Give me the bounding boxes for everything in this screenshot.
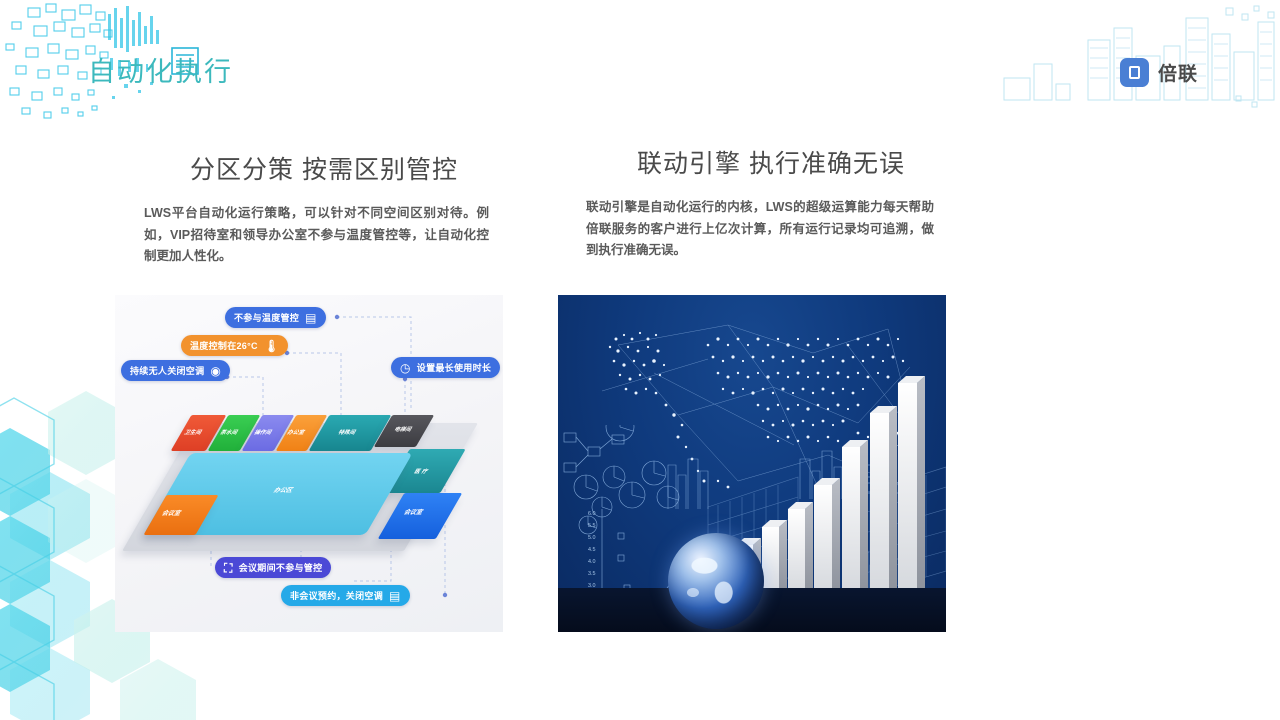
column-left: 分区分策 按需区别管控 LWS平台自动化运行策略，可以针对不同空间区别对待。例如… [115,150,515,268]
chip-label: 不参与温度管控 [234,311,299,324]
chip-temperature-26[interactable]: 温度控制在26°C 🌡 [181,335,288,356]
globe-graphic [668,533,764,629]
chip-meeting-exempt[interactable]: ⛶ 会议期间不参与管控 [215,557,331,578]
clock-icon: ◷ [400,362,411,374]
chip-label: 非会议预约，关闭空调 [290,589,383,602]
chip-unattended-ac-off[interactable]: 持续无人关闭空调 ◉ [121,360,230,381]
chip-label: 会议期间不参与管控 [239,561,323,574]
brand-name: 倍联 [1158,59,1198,86]
column-right: 联动引擎 执行准确无误 联动引擎是自动化运行的内核，LWS的超级运算能力每天帮助… [558,150,958,262]
section-title-right: 联动引擎 执行准确无误 [584,144,958,180]
section-title-left: 分区分策 按需区别管控 [133,150,515,186]
floor-plan-graphic: 卫生间 茶水间 操作间 办公室 特殊间 电梯间 医 疗 办公区 会议室 会议室 [115,295,503,632]
chip-no-temperature-control[interactable]: 不参与温度管控 ▤ [225,307,326,328]
motion-sensor-icon: ◉ [210,365,221,377]
thermometer-icon: 🌡 [264,340,280,352]
brand-logo: 倍联 [1120,58,1198,87]
page-title: 自动化执行 [88,50,233,89]
page-header: 自动化执行 倍联 [0,0,1280,120]
chip-label: 设置最长使用时长 [417,361,491,374]
document-icon: ▤ [305,312,317,324]
section-body-left: LWS平台自动化运行策略，可以针对不同空间区别对待。例如，VIP招待室和领导办公… [115,203,515,268]
illustration-big-data: 6.05.55.0 4.54.03.5 3.02.52.0 1.5 [558,295,946,632]
chip-label: 温度控制在26°C [190,339,258,352]
section-body-right: 联动引擎是自动化运行的内核，LWS的超级运算能力每天帮助倍联服务的客户进行上亿次… [558,197,958,262]
bar-group [736,376,925,595]
meeting-icon: ⛶ [224,562,233,574]
chip-no-booking-ac-off[interactable]: 非会议预约，关闭空调 ▤ [281,585,410,606]
illustration-floor-plan: 卫生间 茶水间 操作间 办公室 特殊间 电梯间 医 疗 办公区 会议室 会议室 … [115,295,503,632]
chip-label: 持续无人关闭空调 [130,364,204,377]
calendar-icon: ▤ [389,590,401,602]
square-logo-icon [1120,58,1149,87]
chip-max-duration[interactable]: ◷ 设置最长使用时长 [391,357,500,378]
